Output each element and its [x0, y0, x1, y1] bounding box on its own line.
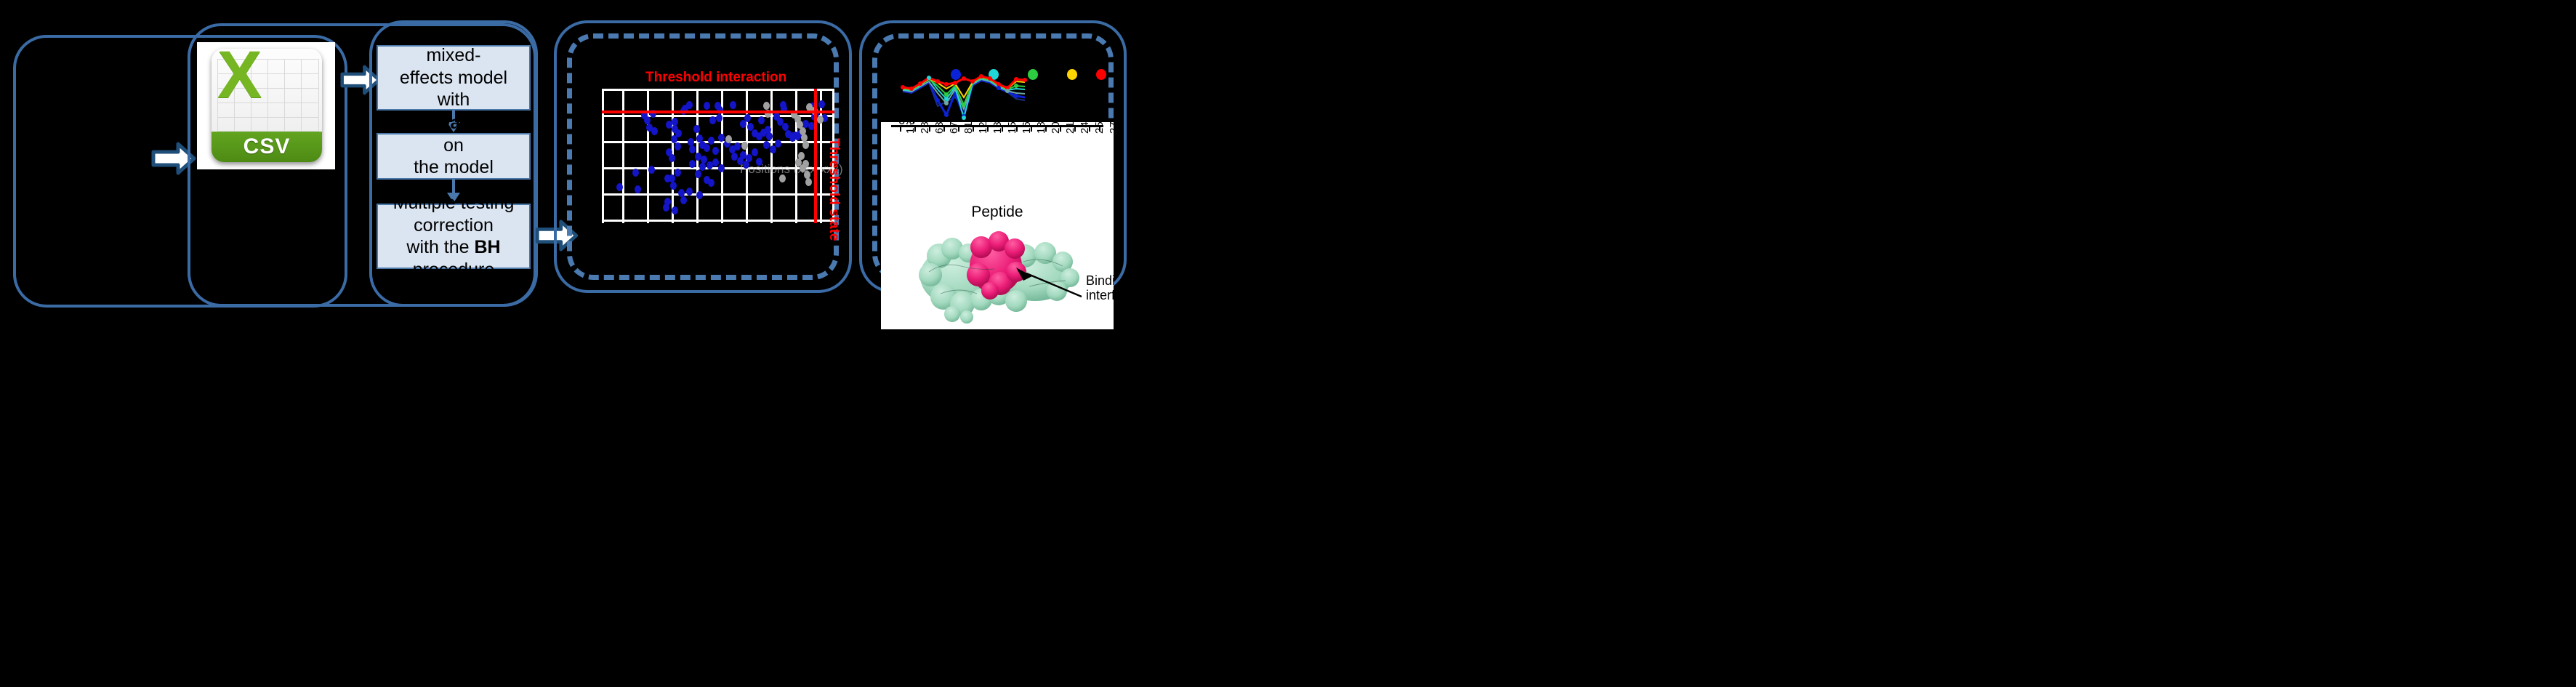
peptide-uptake-line-chart	[895, 64, 1127, 121]
process-box-fit-model: Fit a linear mixed- effects model with R…	[377, 45, 531, 111]
peptide-tick-2: 63-73	[933, 122, 946, 134]
wald-line1-post: on	[443, 135, 464, 156]
peptide-tick-6: 135-144	[991, 122, 1004, 134]
threshold-interaction-line	[602, 111, 834, 113]
fit-model-line1: Fit a linear mixed-	[411, 23, 496, 66]
binding-interface-label-line2: interface	[1086, 288, 1114, 302]
bh-bold: BH	[475, 237, 501, 257]
wald-line1-pre: Apply	[383, 113, 433, 133]
binding-interface-arrow-icon	[1010, 265, 1086, 304]
workflow-figure: X CSV Fit a linear mixed- effects model …	[0, 0, 2576, 687]
peptide-tick-14: 277-284	[1108, 122, 1114, 134]
bh-line3-pre: with the	[406, 237, 474, 257]
excel-x-letter: X	[217, 49, 259, 103]
peptide-tick-1: 28-44	[919, 122, 931, 134]
csv-file-icon: X CSV	[212, 49, 322, 162]
csv-label-band: CSV	[212, 132, 322, 162]
peptide-tick-11: 218-237	[1064, 122, 1076, 134]
threshold-state-label: Threshold state	[826, 138, 842, 241]
csv-label: CSV	[243, 136, 291, 158]
binding-interface-label-line1: Binding	[1086, 273, 1114, 288]
peptide-tick-9: 184-199	[1035, 122, 1047, 134]
peptide-axis-title: Peptide	[881, 204, 1114, 221]
bh-line1: Multiple testing	[393, 193, 515, 213]
threshold-state-line	[814, 89, 817, 223]
volcano-scatter-plot: Positions (xxx-xxx)	[602, 89, 834, 223]
process-box-wald-tests: Apply Wald tests on the model parameters	[377, 133, 531, 180]
csv-file-card: X CSV	[197, 42, 335, 169]
peptide-tick-3: 67-75	[948, 122, 960, 134]
fit-model-line2: effects model with	[400, 68, 507, 111]
wald-tests-bold: Wald tests	[434, 113, 524, 133]
peptide-tick-7: 158-166	[1006, 122, 1018, 134]
peptide-tick-10: 200-214	[1050, 122, 1062, 134]
threshold-interaction-label: Threshold interaction	[645, 70, 786, 86]
structure-figure-card: 1-15 28-44 63-73 67-75 81-101 122-129 13…	[881, 122, 1114, 329]
y-axis-tick-label: 0.0	[898, 113, 916, 128]
peptide-tick-8: 167-180	[1021, 122, 1033, 134]
bh-line3-post: procedure	[413, 260, 495, 280]
peptide-tick-13: 258-266	[1093, 122, 1106, 134]
peptide-tick-12: 241-257	[1079, 122, 1091, 134]
peptide-tick-5: 122-129	[977, 122, 989, 134]
peptide-tick-4: 81-101	[962, 122, 975, 134]
process-box-bh-correction: Multiple testing correction with the BH …	[377, 204, 531, 269]
bh-line2: correction	[414, 215, 494, 236]
